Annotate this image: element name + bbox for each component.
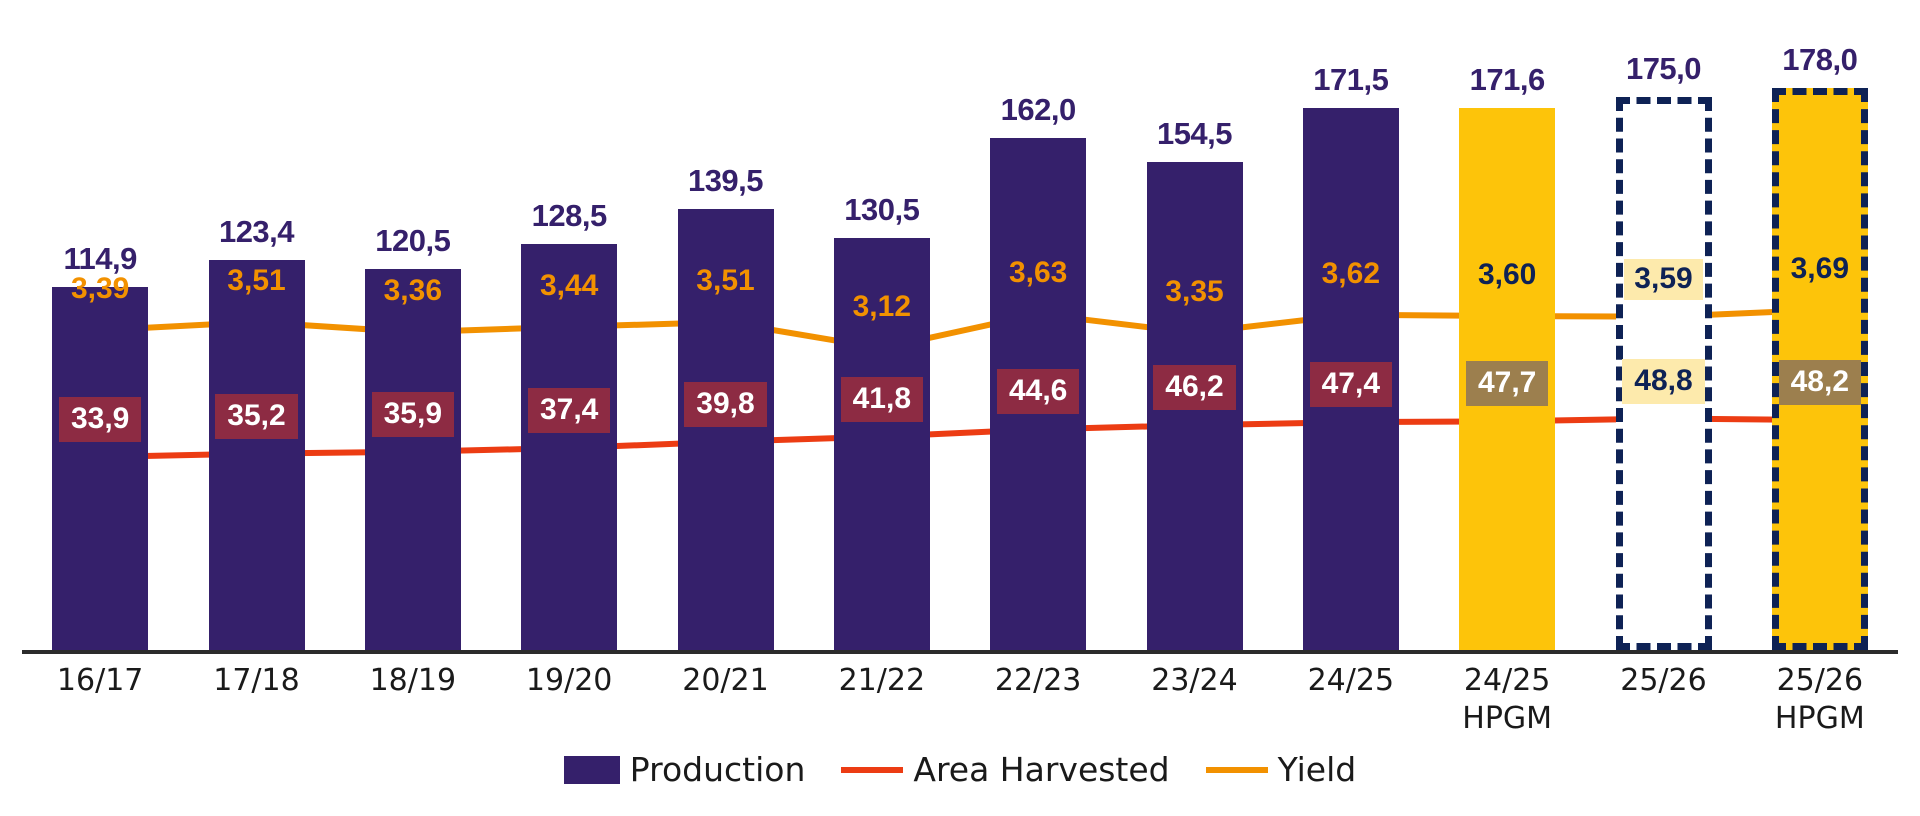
x-axis-tick-label: 24/25 (1273, 662, 1429, 700)
area-harvested-value-text: 35,2 (215, 394, 297, 439)
x-axis-tick-main: 17/18 (178, 662, 334, 700)
area-harvested-value-text: 48,8 (1622, 359, 1704, 404)
bar-group[interactable]: 128,53,4437,4 (521, 18, 617, 650)
area-harvested-value-label: 35,2 (199, 394, 315, 439)
x-axis-tick-main: 21/22 (804, 662, 960, 700)
yield-value-label: 3,51 (199, 264, 315, 298)
area-harvested-value-text: 37,4 (528, 388, 610, 433)
x-axis-tick-label: 23/24 (1116, 662, 1272, 700)
yield-value-label: 3,39 (42, 272, 158, 306)
x-axis-tick-sub: HPGM (1742, 700, 1898, 738)
chart-legend: ProductionArea HarvestedYield (0, 750, 1920, 789)
x-axis-tick-main: 23/24 (1116, 662, 1272, 700)
area-harvested-value-label: 33,9 (42, 397, 158, 442)
area-harvested-value-label: 44,6 (980, 369, 1096, 414)
area-harvested-value-text: 41,8 (841, 377, 923, 422)
yield-value-label: 3,44 (511, 269, 627, 303)
x-axis-tick-main: 16/17 (22, 662, 178, 700)
area-harvested-value-text: 46,2 (1153, 365, 1235, 410)
yield-value-label: 3,69 (1762, 252, 1878, 286)
x-axis-tick-label: 22/23 (960, 662, 1116, 700)
x-axis-tick-main: 24/25 (1273, 662, 1429, 700)
area-harvested-value-label: 41,8 (824, 377, 940, 422)
x-axis-tick-main: 18/19 (335, 662, 491, 700)
x-axis-tick-main: 24/25 (1429, 662, 1585, 700)
x-axis-tick-main: 20/21 (647, 662, 803, 700)
production-value-label: 130,5 (820, 192, 944, 228)
yield-value-label: 3,12 (824, 290, 940, 324)
area-harvested-value-text: 47,7 (1466, 361, 1548, 406)
production-bar[interactable] (521, 244, 617, 650)
x-axis-line (22, 650, 1898, 654)
legend-line-swatch-icon (1206, 767, 1268, 773)
bar-group[interactable]: 120,53,3635,9 (365, 18, 461, 650)
x-axis-tick-main: 25/26 (1742, 662, 1898, 700)
legend-line-swatch-icon (841, 767, 903, 773)
legend-item[interactable]: Production (564, 750, 806, 789)
x-axis-tick-label: 19/20 (491, 662, 647, 700)
x-axis-tick-label: 18/19 (335, 662, 491, 700)
production-value-label: 139,5 (664, 163, 788, 199)
yield-line (100, 310, 1820, 348)
yield-value-label: 3,36 (355, 274, 471, 308)
x-axis-tick-label: 21/22 (804, 662, 960, 700)
production-bar[interactable] (365, 269, 461, 650)
x-axis-tick-label: 20/21 (647, 662, 803, 700)
chart-root: 114,93,3933,9123,43,5135,2120,53,3635,91… (0, 0, 1920, 816)
production-value-label: 178,0 (1758, 42, 1882, 78)
production-value-label: 162,0 (976, 92, 1100, 128)
production-value-label: 128,5 (507, 198, 631, 234)
area-harvested-value-label: 37,4 (511, 388, 627, 433)
x-axis-tick-main: 22/23 (960, 662, 1116, 700)
legend-label: Area Harvested (913, 750, 1169, 789)
legend-label: Yield (1278, 750, 1357, 789)
area-harvested-value-text: 44,6 (997, 369, 1079, 414)
production-bar[interactable] (52, 287, 148, 650)
area-harvested-value-text: 47,4 (1310, 362, 1392, 407)
area-harvested-value-label: 35,9 (355, 392, 471, 437)
plot-area: 114,93,3933,9123,43,5135,2120,53,3635,91… (22, 18, 1898, 650)
production-value-label: 171,6 (1445, 62, 1569, 98)
production-value-label: 120,5 (351, 223, 475, 259)
bar-group[interactable]: 171,53,6247,4 (1303, 18, 1399, 650)
bar-group[interactable]: 139,53,5139,8 (678, 18, 774, 650)
yield-value-label: 3,59 (1606, 259, 1722, 300)
production-value-label: 154,5 (1133, 116, 1257, 152)
area-harvested-value-text: 35,9 (372, 392, 454, 437)
x-axis-tick-main: 19/20 (491, 662, 647, 700)
x-axis-tick-label: 25/26 (1585, 662, 1741, 700)
bar-group[interactable]: 175,03,5948,8 (1616, 18, 1712, 650)
bar-group[interactable]: 123,43,5135,2 (209, 18, 305, 650)
x-axis-tick-main: 25/26 (1585, 662, 1741, 700)
x-axis-tick-label: 17/18 (178, 662, 334, 700)
legend-label: Production (630, 750, 806, 789)
bar-group[interactable]: 171,63,6047,7 (1459, 18, 1555, 650)
area-harvested-value-text: 39,8 (684, 382, 766, 427)
area-harvested-value-label: 48,8 (1606, 359, 1722, 404)
area-harvested-value-label: 39,8 (668, 382, 784, 427)
production-bar[interactable] (209, 260, 305, 650)
area-harvested-value-text: 48,2 (1779, 360, 1861, 405)
yield-value-label: 3,35 (1137, 275, 1253, 309)
area-harvested-value-label: 47,4 (1293, 362, 1409, 407)
bar-group[interactable]: 178,03,6948,2 (1772, 18, 1868, 650)
area-harvested-value-label: 46,2 (1137, 365, 1253, 410)
yield-value-text: 3,59 (1624, 259, 1702, 300)
x-axis-tick-label: 16/17 (22, 662, 178, 700)
yield-value-label: 3,51 (668, 264, 784, 298)
x-axis-labels: 16/1717/1818/1919/2020/2121/2222/2323/24… (22, 662, 1898, 742)
x-axis-tick-sub: HPGM (1429, 700, 1585, 738)
x-axis-tick-label: 24/25HPGM (1429, 662, 1585, 738)
bar-group[interactable]: 154,53,3546,2 (1147, 18, 1243, 650)
production-value-label: 171,5 (1289, 62, 1413, 98)
legend-box-swatch-icon (564, 756, 620, 784)
yield-value-label: 3,62 (1293, 257, 1409, 291)
yield-value-label: 3,63 (980, 256, 1096, 290)
x-axis-tick-label: 25/26HPGM (1742, 662, 1898, 738)
bar-group[interactable]: 162,03,6344,6 (990, 18, 1086, 650)
area-harvested-value-text: 33,9 (59, 397, 141, 442)
area-harvested-value-label: 47,7 (1449, 361, 1565, 406)
bar-group[interactable]: 114,93,3933,9 (52, 18, 148, 650)
legend-item[interactable]: Yield (1206, 750, 1357, 789)
bar-group[interactable]: 130,53,1241,8 (834, 18, 930, 650)
yield-value-label: 3,60 (1449, 258, 1565, 292)
area-harvested-value-label: 48,2 (1762, 360, 1878, 405)
production-value-label: 123,4 (195, 214, 319, 250)
production-value-label: 175,0 (1602, 51, 1726, 87)
legend-item[interactable]: Area Harvested (841, 750, 1169, 789)
